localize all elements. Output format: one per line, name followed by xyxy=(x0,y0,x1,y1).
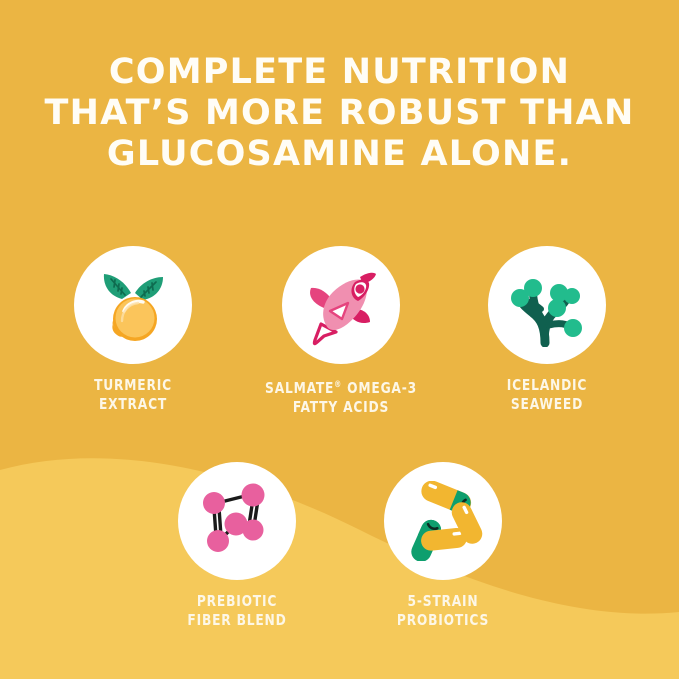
label-line-2: FATTY ACIDS xyxy=(257,398,424,417)
ingredient-label-turmeric: TURMERIC EXTRACT xyxy=(49,376,216,413)
label-line-2: SEAWEED xyxy=(463,395,630,414)
icon-circle-turmeric xyxy=(74,246,192,364)
ingredient-tile-seaweed: ICELANDIC SEAWEED xyxy=(452,246,642,413)
label-line-1: 5-STRAIN xyxy=(408,592,479,610)
label-line-1: PREBIOTIC xyxy=(197,592,277,610)
label-line-2: PROBIOTICS xyxy=(359,611,526,630)
turmeric-root-icon xyxy=(95,263,171,347)
ingredient-tile-salmate: SALMATE® OMEGA-3 FATTY ACIDS xyxy=(246,246,436,416)
capsules-icon xyxy=(401,481,485,561)
icon-circle-salmate xyxy=(282,246,400,364)
label-line-1: TURMERIC xyxy=(94,376,172,394)
label-line-1: ICELANDIC xyxy=(507,376,587,394)
label-line-1: SALMATE xyxy=(265,379,334,397)
salmon-fish-icon xyxy=(300,261,382,349)
ingredient-label-salmate: SALMATE® OMEGA-3 FATTY ACIDS xyxy=(257,376,424,416)
label-line-2: EXTRACT xyxy=(49,395,216,414)
icon-circle-probiotic xyxy=(384,462,502,580)
icon-circle-seaweed xyxy=(488,246,606,364)
promo-graphic: COMPLETE NUTRITION THAT’S MORE ROBUST TH… xyxy=(0,0,679,679)
label-line-1-suffix: OMEGA-3 xyxy=(342,379,417,397)
molecule-icon xyxy=(197,481,277,561)
ingredient-tile-fiber: PREBIOTIC FIBER BLEND xyxy=(142,462,332,629)
ingredient-label-fiber: PREBIOTIC FIBER BLEND xyxy=(153,592,320,629)
seaweed-icon xyxy=(507,263,587,347)
ingredient-tile-turmeric: TURMERIC EXTRACT xyxy=(38,246,228,413)
ingredient-label-seaweed: ICELANDIC SEAWEED xyxy=(463,376,630,413)
icon-circle-fiber xyxy=(178,462,296,580)
ingredient-grid: TURMERIC EXTRACT xyxy=(0,0,679,679)
ingredient-label-probiotic: 5-STRAIN PROBIOTICS xyxy=(359,592,526,629)
label-line-2: FIBER BLEND xyxy=(153,611,320,630)
ingredient-tile-probiotic: 5-STRAIN PROBIOTICS xyxy=(348,462,538,629)
